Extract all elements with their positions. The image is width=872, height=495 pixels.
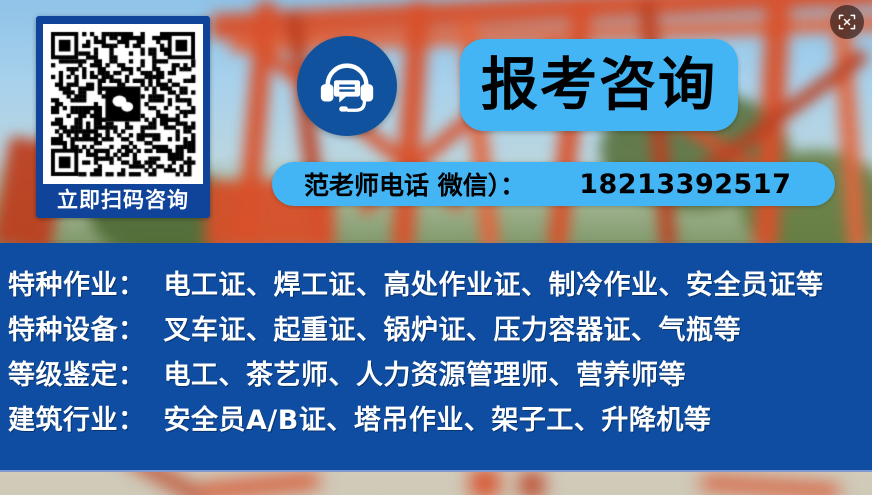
category-label: 建筑行业： [8, 398, 146, 437]
ad-banner: 立即扫码咨询 报考咨询 范老师电话 微信）： 18213392517 特 [0, 0, 872, 495]
category-items: 电工、茶艺师、人力资源管理师、营养师等 [164, 353, 687, 392]
headset-glyph [316, 55, 378, 117]
scan-frame-close-icon[interactable] [830, 5, 864, 39]
consult-cta-label: 报考咨询 [481, 57, 717, 114]
category-label: 特种设备： [8, 308, 146, 347]
category-row-construction-industry: 建筑行业： 安全员A/B证、塔吊作业、架子工、升降机等 [0, 398, 872, 443]
qr-card-label: 立即扫码咨询 [39, 184, 207, 218]
scan-frame-close-glyph [837, 12, 857, 32]
category-label: 等级鉴定： [8, 353, 146, 392]
headset-support-icon [297, 36, 397, 136]
qr-code-canvas [43, 24, 203, 184]
certificate-categories-panel: 特种作业： 电工证、焊工证、高处作业证、制冷作业、安全员证等 特种设备： 叉车证… [0, 243, 872, 470]
qr-code-card[interactable]: 立即扫码咨询 [36, 16, 210, 218]
category-label: 特种作业： [8, 263, 146, 302]
panel-bottom-edge [0, 470, 872, 472]
contact-phone-bar[interactable]: 范老师电话 微信）： 18213392517 [272, 162, 835, 206]
contact-phone-label: 范老师电话 微信）： [304, 166, 525, 202]
category-row-special-operation: 特种作业： 电工证、焊工证、高处作业证、制冷作业、安全员证等 [0, 263, 872, 308]
wechat-qr-code[interactable] [43, 24, 203, 184]
category-row-special-equipment: 特种设备： 叉车证、起重证、锅炉证、压力容器证、气瓶等 [0, 308, 872, 353]
category-items: 叉车证、起重证、锅炉证、压力容器证、气瓶等 [164, 308, 742, 347]
category-items: 电工证、焊工证、高处作业证、制冷作业、安全员证等 [164, 263, 824, 302]
contact-phone-number[interactable]: 18213392517 [579, 169, 791, 200]
category-items: 安全员A/B证、塔吊作业、架子工、升降机等 [164, 398, 712, 437]
consult-cta-button[interactable]: 报考咨询 [460, 39, 738, 131]
category-row-grade-appraisal: 等级鉴定： 电工、茶艺师、人力资源管理师、营养师等 [0, 353, 872, 398]
